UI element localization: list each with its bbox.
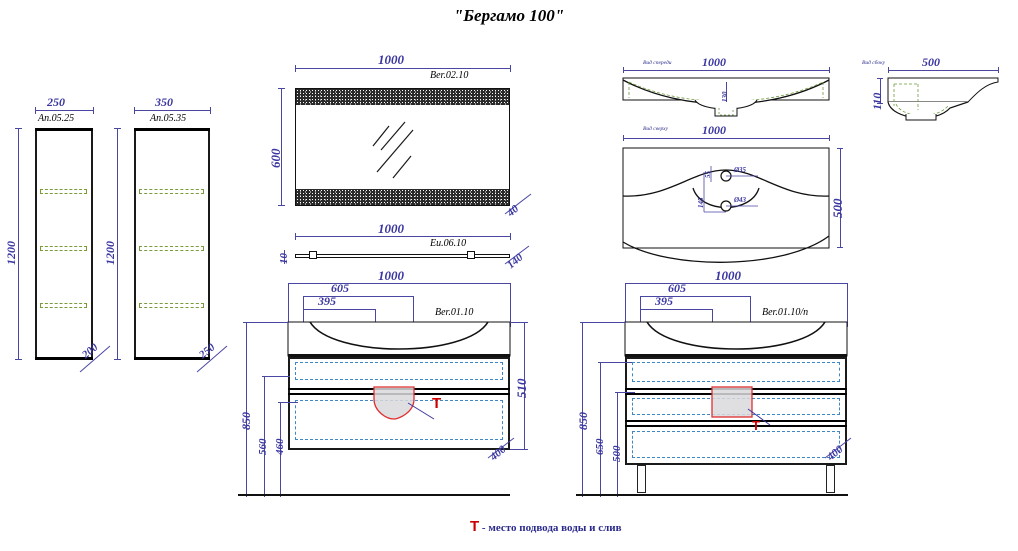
- page-title: "Бергамо 100": [0, 6, 1018, 26]
- mount-block-right: [467, 251, 475, 259]
- cabinet-body: [35, 128, 93, 360]
- dim-395: 395: [318, 294, 336, 309]
- label-ap0525: Ап.05.25: [38, 113, 74, 124]
- dim-tick: [623, 67, 624, 73]
- dim-height-110: 110: [870, 93, 885, 110]
- label-ber0110: Ber.01.10: [435, 307, 473, 318]
- view-label-side: Вид сбоку: [862, 60, 885, 66]
- dim-depth-500: 500: [830, 199, 846, 219]
- dim-tick: [510, 65, 511, 72]
- view-label-front: Вид спереди: [643, 60, 672, 66]
- technical-drawing-sheet: "Бергамо 100" 250 Ап.05.25 1200 200 350: [0, 0, 1018, 551]
- dim-hole-35: Ø35: [734, 166, 746, 174]
- dim-tick: [877, 78, 883, 79]
- cabinet-body: [134, 128, 210, 360]
- label-ap0535: Ап.05.35: [150, 113, 186, 124]
- shelf: [40, 189, 87, 194]
- dim-ext: [510, 322, 528, 323]
- dim-tick: [134, 107, 135, 114]
- cabinet-leg-left: [637, 465, 646, 493]
- dim-depth-130: 130: [721, 92, 729, 103]
- legend-t-symbol: T: [470, 518, 479, 535]
- legend-footnote: T - место подвода воды и слив: [470, 518, 622, 535]
- dim-ext: [847, 283, 848, 327]
- dim-tick: [278, 88, 285, 89]
- dim-tick: [829, 67, 830, 73]
- dim-height-510: 510: [514, 379, 530, 399]
- shelf: [139, 189, 204, 194]
- glass-reflection-icon: [355, 120, 475, 190]
- dim-height-600: 600: [268, 149, 284, 169]
- dim-offset-145: 145: [697, 198, 705, 209]
- shelf: [139, 303, 204, 308]
- dim-line: [35, 110, 93, 111]
- shelf: [40, 303, 87, 308]
- mirror-band-bottom: [296, 189, 509, 205]
- dim-line: [623, 138, 829, 139]
- dim-tick: [837, 247, 843, 248]
- label-eu0610: Eu.06.10: [430, 238, 466, 249]
- dim-height-1200: 1200: [4, 241, 19, 265]
- dim-ext: [615, 392, 635, 393]
- dim-line: [888, 70, 998, 71]
- dim-line: [295, 68, 510, 69]
- dim-ext: [243, 322, 289, 323]
- dim-ext: [262, 376, 290, 377]
- label-ber0210: Ber.02.10: [430, 70, 468, 81]
- water-supply-zone: [710, 387, 780, 432]
- dim-line: [640, 309, 712, 310]
- dim-line: [582, 322, 583, 497]
- dim-width-350: 350: [155, 95, 173, 110]
- mount-block-left: [309, 251, 317, 259]
- dim-ext: [580, 322, 626, 323]
- cabinet-top-edge: [134, 128, 210, 131]
- dim-tick: [888, 67, 889, 73]
- dim-ext: [288, 283, 289, 327]
- dim-tick: [114, 128, 121, 129]
- dim-tick: [998, 67, 999, 73]
- dim-ext: [510, 283, 511, 327]
- dim-width-1000: 1000: [715, 268, 741, 284]
- label-ber0110n: Ber.01.10/n: [762, 307, 808, 318]
- dim-tick: [35, 107, 36, 114]
- dim-line: [134, 110, 210, 111]
- dim-height-1200: 1200: [103, 241, 118, 265]
- dim-line: [246, 322, 247, 497]
- dim-460: 460: [274, 439, 286, 456]
- dim-line: [600, 362, 601, 497]
- dim-width-1000: 1000: [378, 221, 404, 237]
- legend-text: - место подвода воды и слив: [482, 522, 622, 534]
- dim-850: 850: [239, 412, 254, 430]
- dim-tick: [295, 233, 296, 240]
- dim-line: [303, 309, 375, 310]
- dim-ext: [625, 283, 626, 327]
- floor-line: [238, 494, 510, 496]
- dim-tick: [295, 65, 296, 72]
- dim-width-1000: 1000: [378, 268, 404, 284]
- drawer: [295, 362, 503, 380]
- shelf: [139, 246, 204, 251]
- view-label-top: Вид сверху: [643, 126, 668, 132]
- dim-tick: [837, 148, 843, 149]
- cabinet-top-edge: [35, 128, 93, 131]
- dim-500: 500: [611, 446, 623, 463]
- dim-hole-43: Ø43: [734, 196, 746, 204]
- dim-tick: [623, 135, 624, 141]
- dim-tick: [510, 233, 511, 240]
- dim-width-1000: 1000: [378, 52, 404, 68]
- dim-560: 560: [257, 439, 269, 456]
- mirror-band-top: [296, 89, 509, 105]
- dim-tick: [15, 359, 22, 360]
- dim-tick: [829, 135, 830, 141]
- dim-tick: [278, 205, 285, 206]
- dim-ext: [598, 362, 632, 363]
- dim-offset-55: 55: [704, 171, 712, 178]
- dim-tick: [93, 107, 94, 114]
- washbasin-side-profile: [888, 78, 1008, 133]
- dim-width-250: 250: [47, 95, 65, 110]
- dim-850: 850: [576, 412, 591, 430]
- dim-650: 650: [594, 439, 606, 456]
- dim-line: [623, 70, 829, 71]
- water-marker-t: T: [752, 418, 760, 433]
- dim-tick: [210, 107, 211, 114]
- dim-height-10: 10: [278, 253, 290, 264]
- water-marker-t: T: [432, 395, 441, 412]
- shelf: [40, 246, 87, 251]
- dim-line: [264, 376, 265, 497]
- dim-width-500: 500: [922, 55, 940, 70]
- dim-395: 395: [655, 294, 673, 309]
- dim-tick: [15, 128, 22, 129]
- floor-line: [576, 494, 848, 496]
- washbasin-top-profile: [623, 148, 838, 268]
- dim-ext: [278, 402, 298, 403]
- drawer: [632, 431, 840, 458]
- dim-width-1000: 1000: [702, 55, 726, 70]
- drawer: [632, 362, 840, 382]
- dim-width-1000: 1000: [702, 123, 726, 138]
- light-bar: [295, 254, 510, 258]
- dim-tick: [114, 359, 121, 360]
- dim-line: [281, 88, 282, 206]
